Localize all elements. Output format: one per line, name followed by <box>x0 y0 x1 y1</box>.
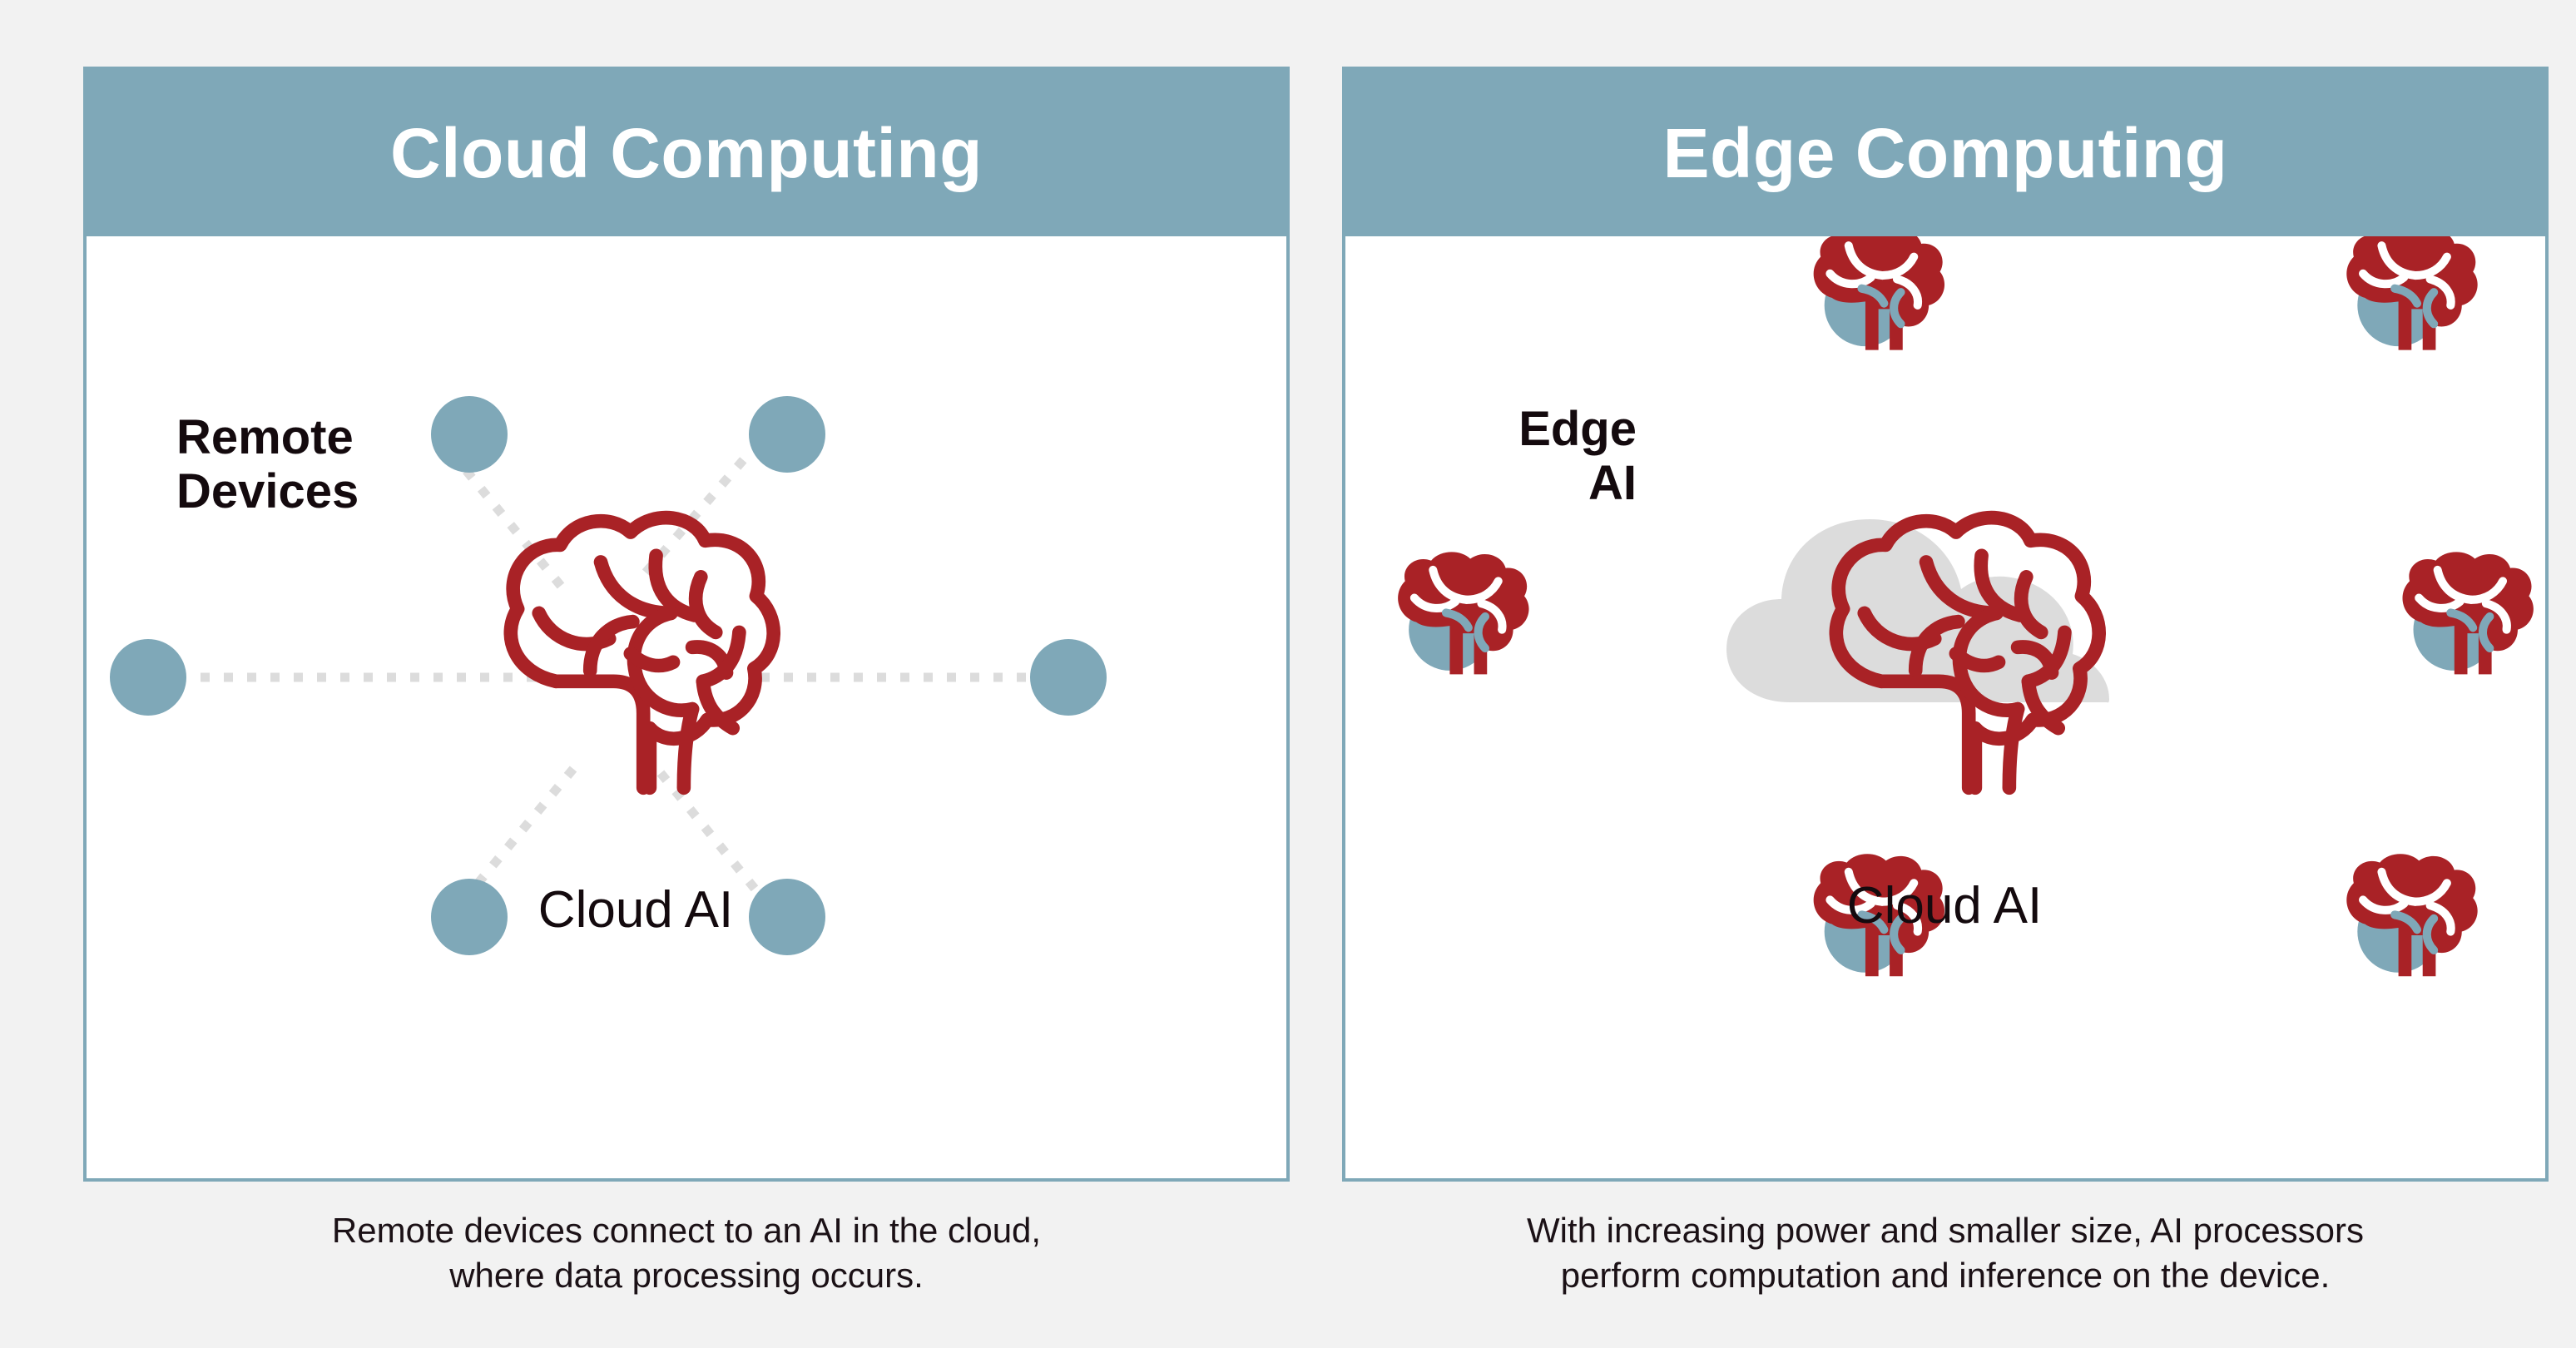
edge-ai-brain-icon <box>2346 236 2477 350</box>
edge-ai-brain-icon <box>1814 236 1944 350</box>
caption-edge-computing: With increasing power and smaller size, … <box>1342 1208 2549 1298</box>
caption-cloud-computing: Remote devices connect to an AI in the c… <box>83 1208 1290 1298</box>
edge-ai-node-group <box>1345 236 2545 1178</box>
remote-devices-label: Remote Devices <box>176 411 359 519</box>
edge-ai-label: Edge AI <box>1420 403 1637 511</box>
cloud-ai-label: Cloud AI <box>1695 877 2194 934</box>
panel-header-cloud-computing: Cloud Computing <box>87 70 1286 236</box>
panel-body-edge-computing: Edge AI Cloud AI <box>1345 236 2545 1178</box>
brain-outline-icon <box>87 236 1286 1178</box>
panel-title: Cloud Computing <box>390 118 983 188</box>
edge-ai-brain-icon <box>1398 552 1528 674</box>
cloud-ai-label: Cloud AI <box>386 881 885 939</box>
panel-header-edge-computing: Edge Computing <box>1345 70 2545 236</box>
panel-cloud-computing: Cloud Computing <box>83 67 1290 1182</box>
edge-ai-brain-icon <box>2346 854 2477 976</box>
infographic-stage: Cloud Computing <box>0 0 2576 1348</box>
panel-title: Edge Computing <box>1663 118 2228 188</box>
edge-ai-brain-icon <box>2402 552 2533 674</box>
panel-body-cloud-computing: Remote Devices Cloud AI <box>87 236 1286 1178</box>
panel-edge-computing: Edge Computing <box>1342 67 2549 1182</box>
